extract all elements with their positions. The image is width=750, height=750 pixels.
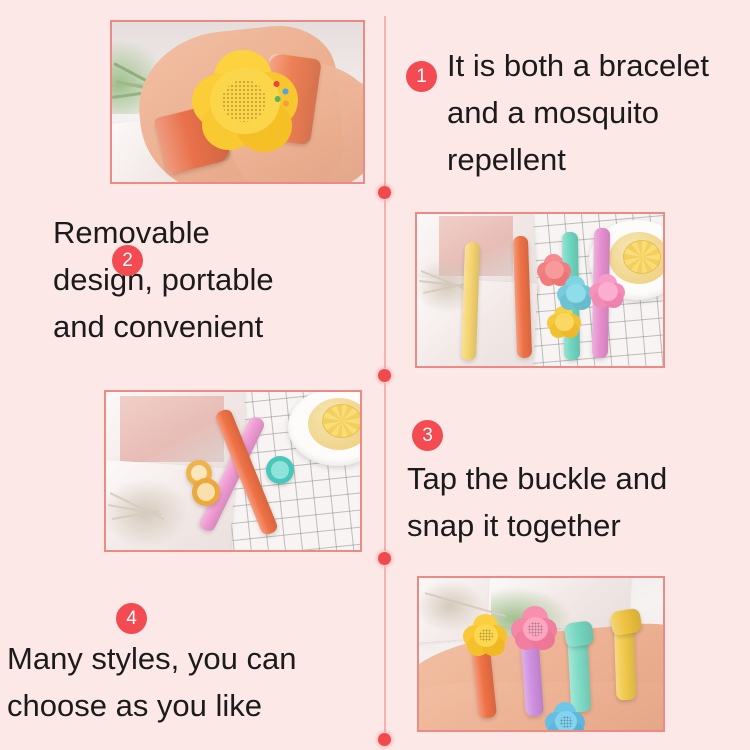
timeline-dot-4 [378,733,391,746]
photo-crossed-straps-with-refill-coils [104,390,362,552]
flower-buckle [547,306,581,338]
step-caption-2: Removable design, portable and convenien… [53,209,383,350]
infographic-canvas: 1 It is both a bracelet and a mosquito r… [0,0,750,750]
step-badge-2: 2 [112,245,143,276]
step-badge-1-number: 1 [416,66,427,87]
flower-buckle [545,702,585,732]
photo-four-straps-and-loose-flower-buckles [415,212,665,368]
timeline-dot-3 [378,552,391,565]
step-badge-4-number: 4 [126,608,137,629]
flower-buckle [589,274,625,308]
timeline-dot-1 [378,186,391,199]
step-badge-3: 3 [412,420,443,451]
flower-buckle [511,606,557,650]
step-caption-3: Tap the buckle and snap it together [407,455,750,549]
step-caption-4: Many styles, you can choose as you like [7,635,387,729]
flower-buckle [192,50,298,152]
timeline-line-segment-3 [384,383,386,551]
timeline-line-segment-2 [384,200,386,368]
refill-coil [192,478,220,506]
photo-wrist-with-yellow-flower-bracelet [110,20,365,184]
flower-buckle [557,276,593,310]
timeline-line-segment-1 [384,16,386,186]
step-badge-4: 4 [116,603,147,634]
bracelet-strap [563,620,594,648]
step-caption-1: It is both a bracelet and a mosquito rep… [447,42,747,183]
timeline-dot-2 [378,369,391,382]
step-badge-2-number: 2 [122,250,133,271]
step-badge-3-number: 3 [422,425,433,446]
photo-arm-wearing-four-bracelets [417,576,665,732]
refill-coil [266,456,294,484]
step-badge-1: 1 [406,61,437,92]
flower-buckle [463,614,507,656]
